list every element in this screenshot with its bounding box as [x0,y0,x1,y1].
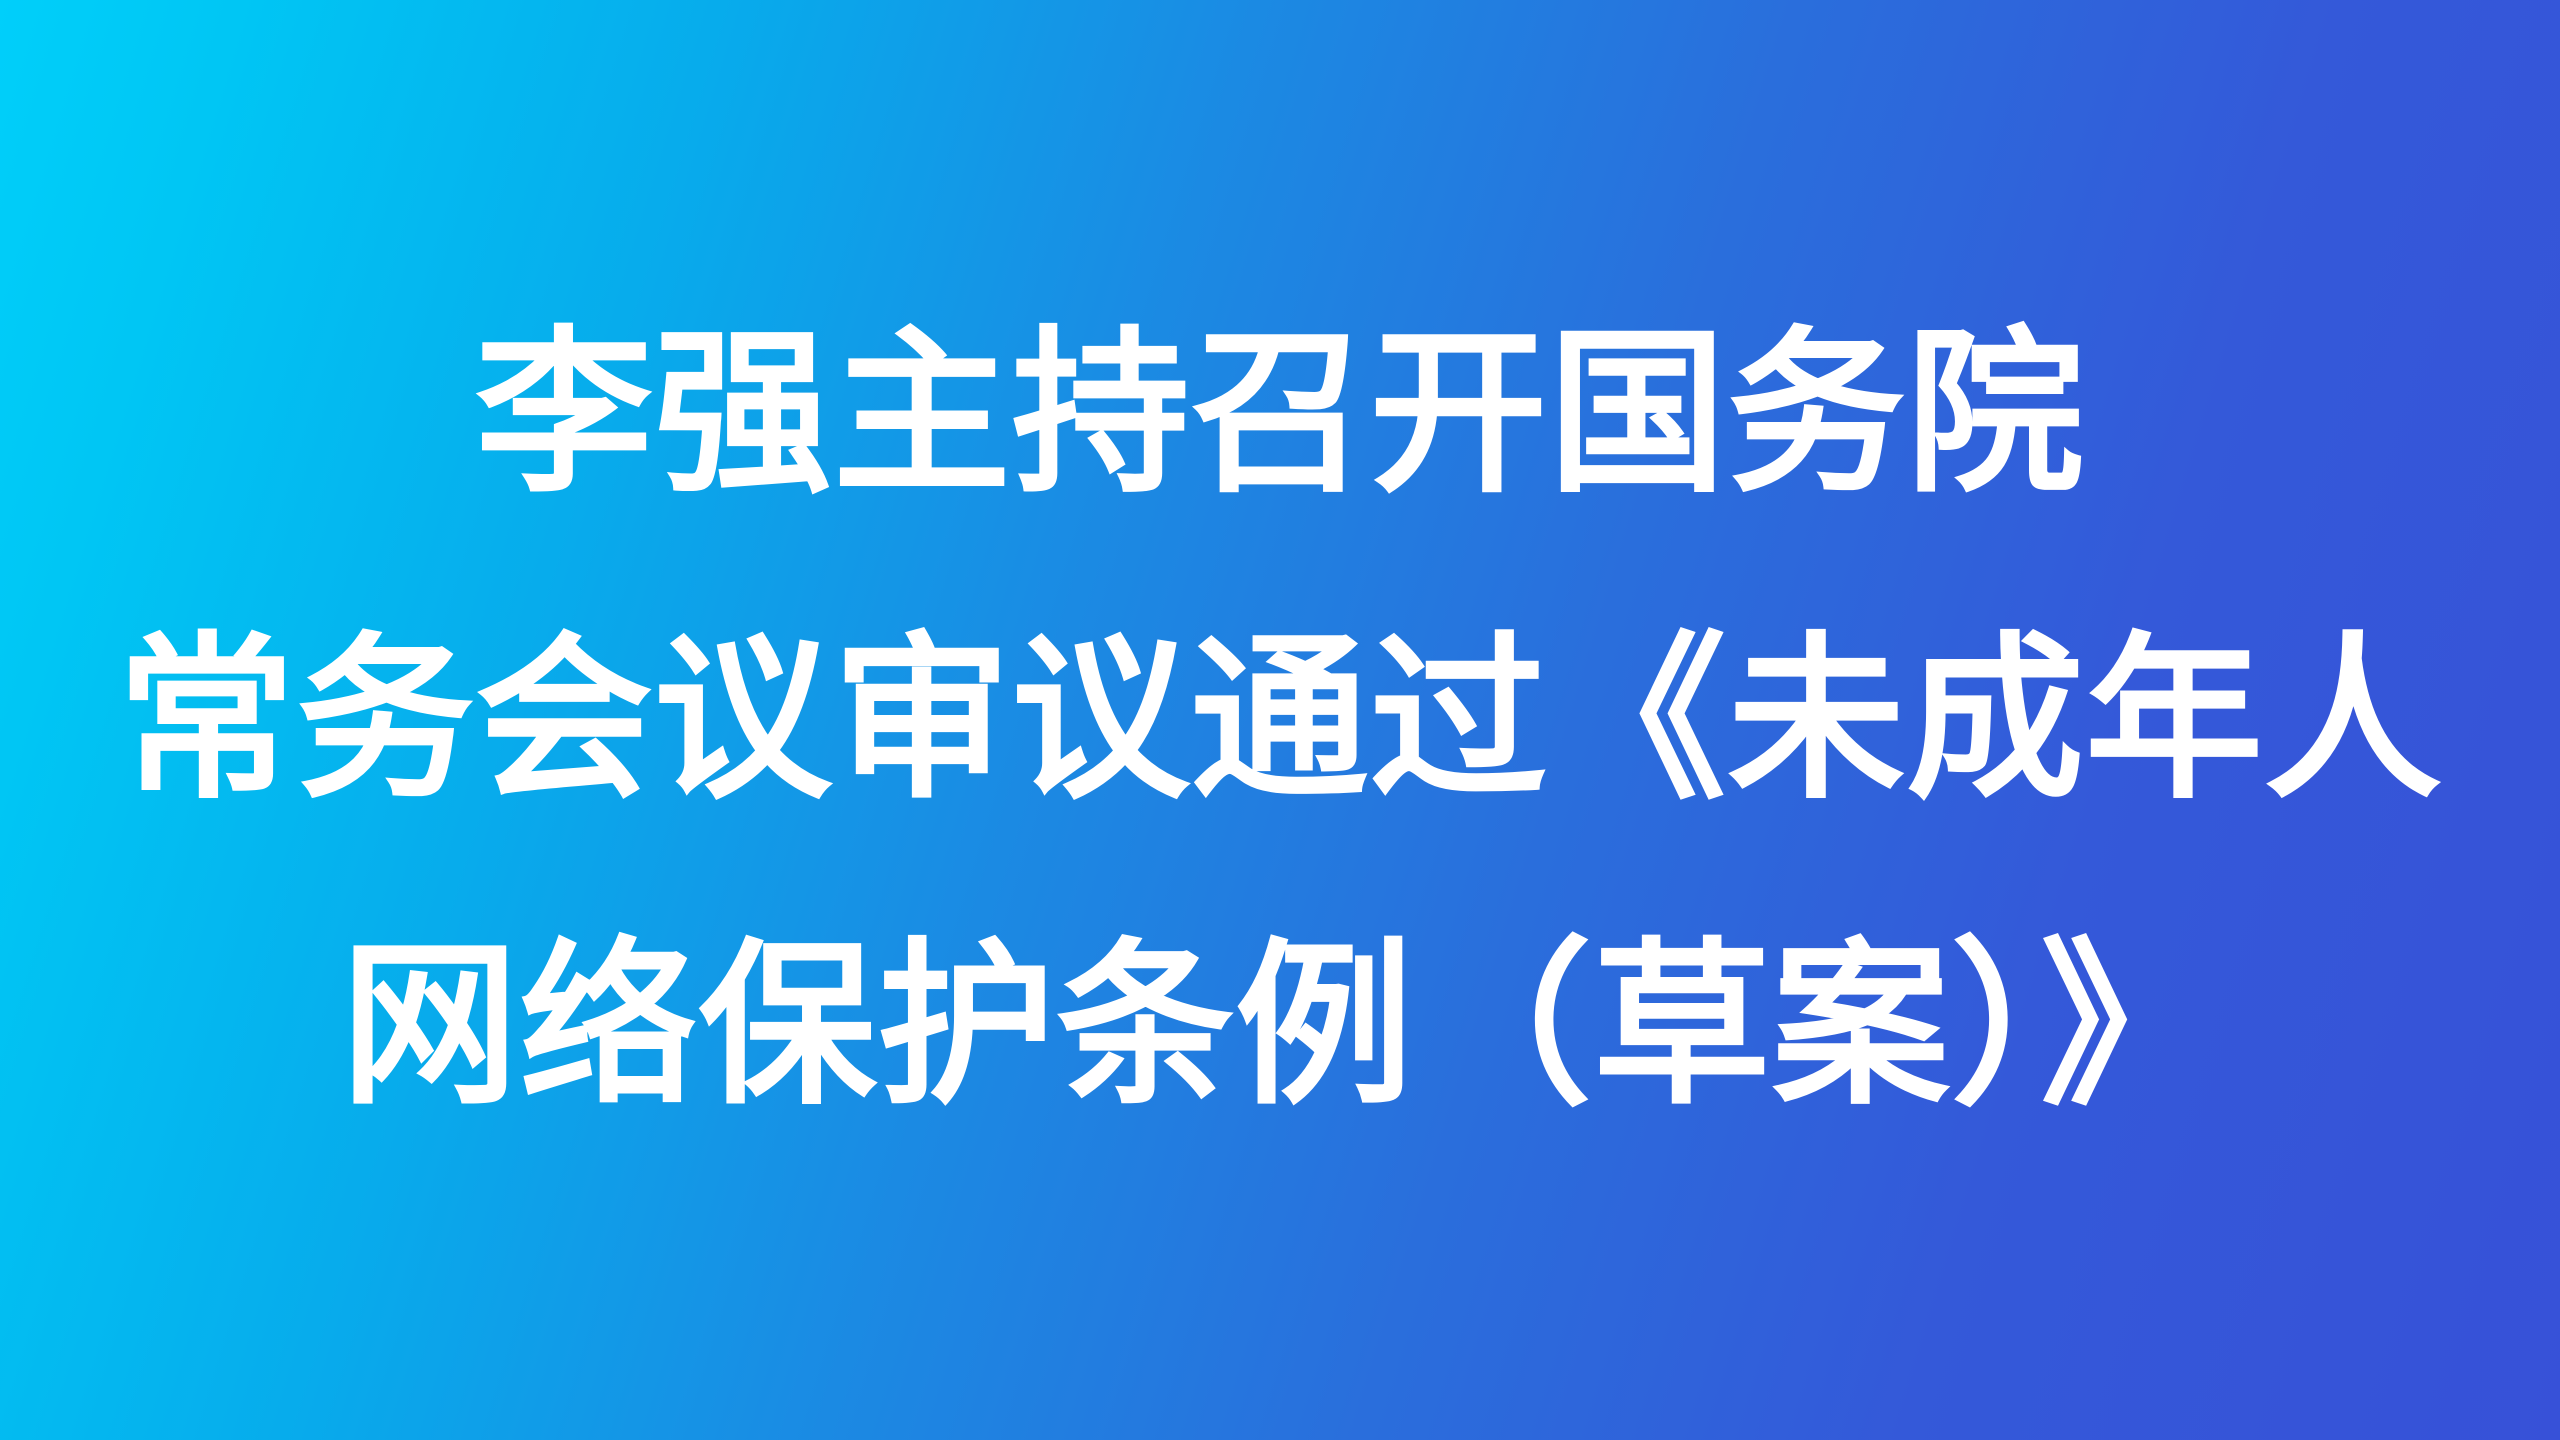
headline-line-1: 李强主持召开国务院 [70,261,2490,567]
poster-background: 李强主持召开国务院 常务会议审议通过《未成年人 网络保护条例（草案）》 [0,0,2560,1440]
headline-line-3: 网络保护条例（草案）》 [70,873,2490,1179]
headline-title: 李强主持召开国务院 常务会议审议通过《未成年人 网络保护条例（草案）》 [70,261,2490,1179]
headline-line-2: 常务会议审议通过《未成年人 [70,567,2490,873]
